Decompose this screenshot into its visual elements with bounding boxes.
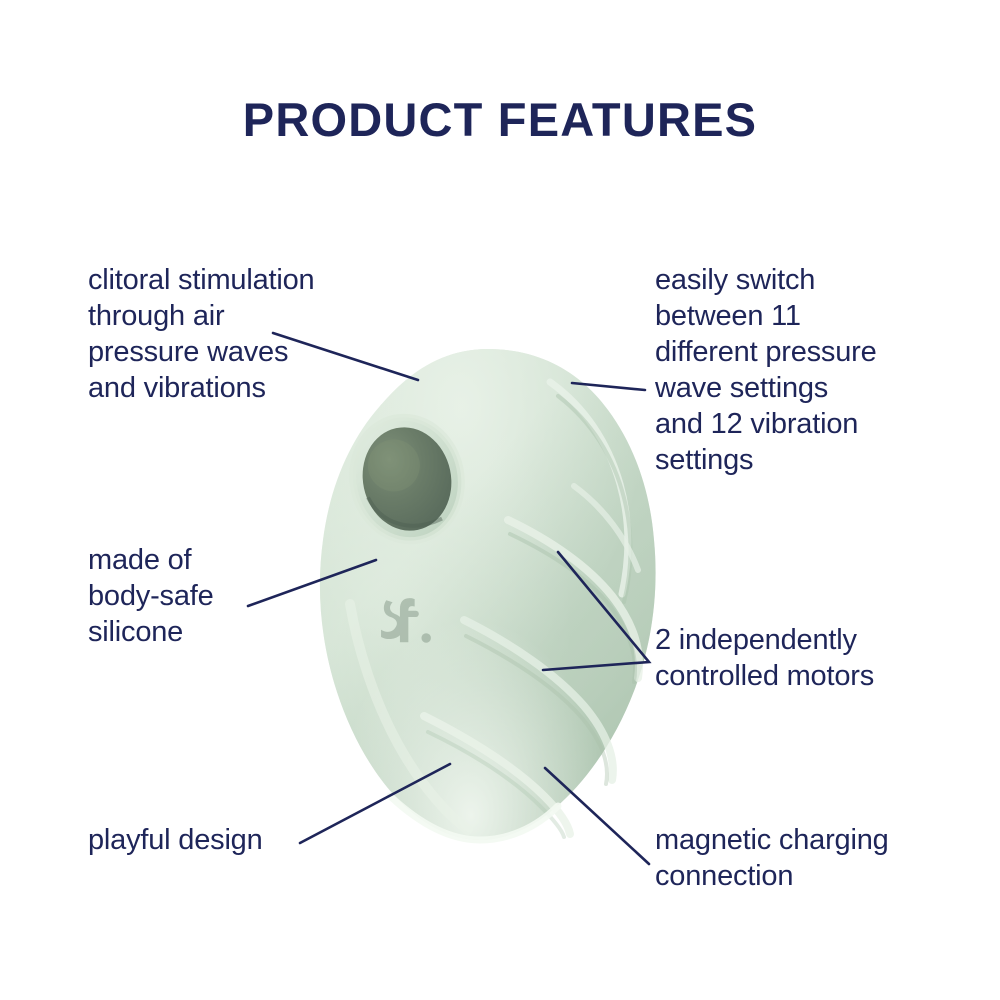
callout-independent-motors: 2 independently controlled motors [655,622,874,694]
callout-line: between 11 [655,298,877,334]
callout-body-safe-silicone: made of body-safe silicone [88,542,214,650]
callout-line: silicone [88,614,214,650]
callout-line: different pressure [655,334,877,370]
callout-pressure-wave-settings: easily switch between 11 different press… [655,262,877,478]
callout-line: and vibrations [88,370,314,406]
callout-line: body-safe [88,578,214,614]
callout-line: settings [655,442,877,478]
callout-playful-design: playful design [88,822,263,858]
callout-line: pressure waves [88,334,314,370]
page-title: PRODUCT FEATURES [0,92,1000,147]
product-features-infographic: PRODUCT FEATURES [0,0,1000,1000]
callout-line: clitoral stimulation [88,262,314,298]
callout-magnetic-charging: magnetic charging connection [655,822,889,894]
callout-line: playful design [88,822,263,858]
callout-line: magnetic charging [655,822,889,858]
callout-line: made of [88,542,214,578]
callout-clitoral-stimulation: clitoral stimulation through air pressur… [88,262,314,406]
callout-line: 2 independently [655,622,874,658]
callout-line: easily switch [655,262,877,298]
product-illustration [312,344,668,844]
callout-line: through air [88,298,314,334]
callout-line: and 12 vibration [655,406,877,442]
product-svg [312,344,668,844]
callout-line: controlled motors [655,658,874,694]
callout-line: connection [655,858,889,894]
callout-line: wave settings [655,370,877,406]
